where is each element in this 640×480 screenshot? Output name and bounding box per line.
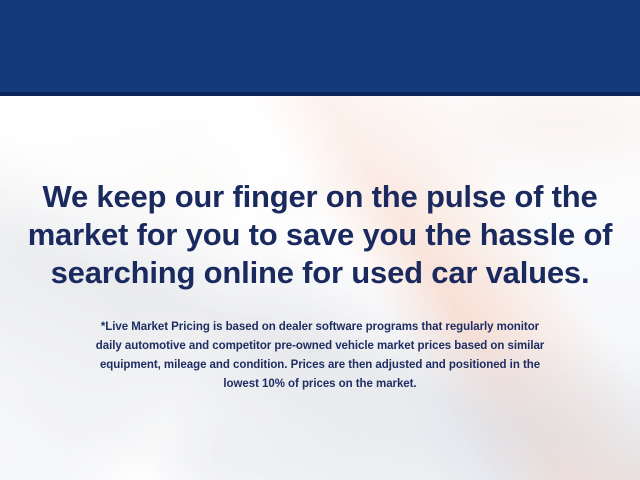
live-market-pricing-banner: Live Market Pricing* We keep our finger …	[0, 0, 640, 480]
headline-line-1: We keep our finger on the pulse of the	[20, 178, 620, 216]
headline-line-3: searching online for used car values.	[20, 254, 620, 292]
header-banner-underline	[0, 92, 640, 96]
disclaimer-line-4: lowest 10% of prices on the market.	[25, 375, 615, 394]
disclaimer-line-1: *Live Market Pricing is based on dealer …	[25, 318, 615, 337]
disclaimer-line-3: equipment, mileage and condition. Prices…	[25, 356, 615, 375]
disclaimer-line-2: daily automotive and competitor pre-owne…	[25, 337, 615, 356]
header-banner	[0, 0, 640, 92]
headline: We keep our finger on the pulse of the m…	[20, 178, 620, 292]
disclaimer: *Live Market Pricing is based on dealer …	[25, 318, 615, 394]
headline-line-2: market for you to save you the hassle of	[20, 216, 620, 254]
